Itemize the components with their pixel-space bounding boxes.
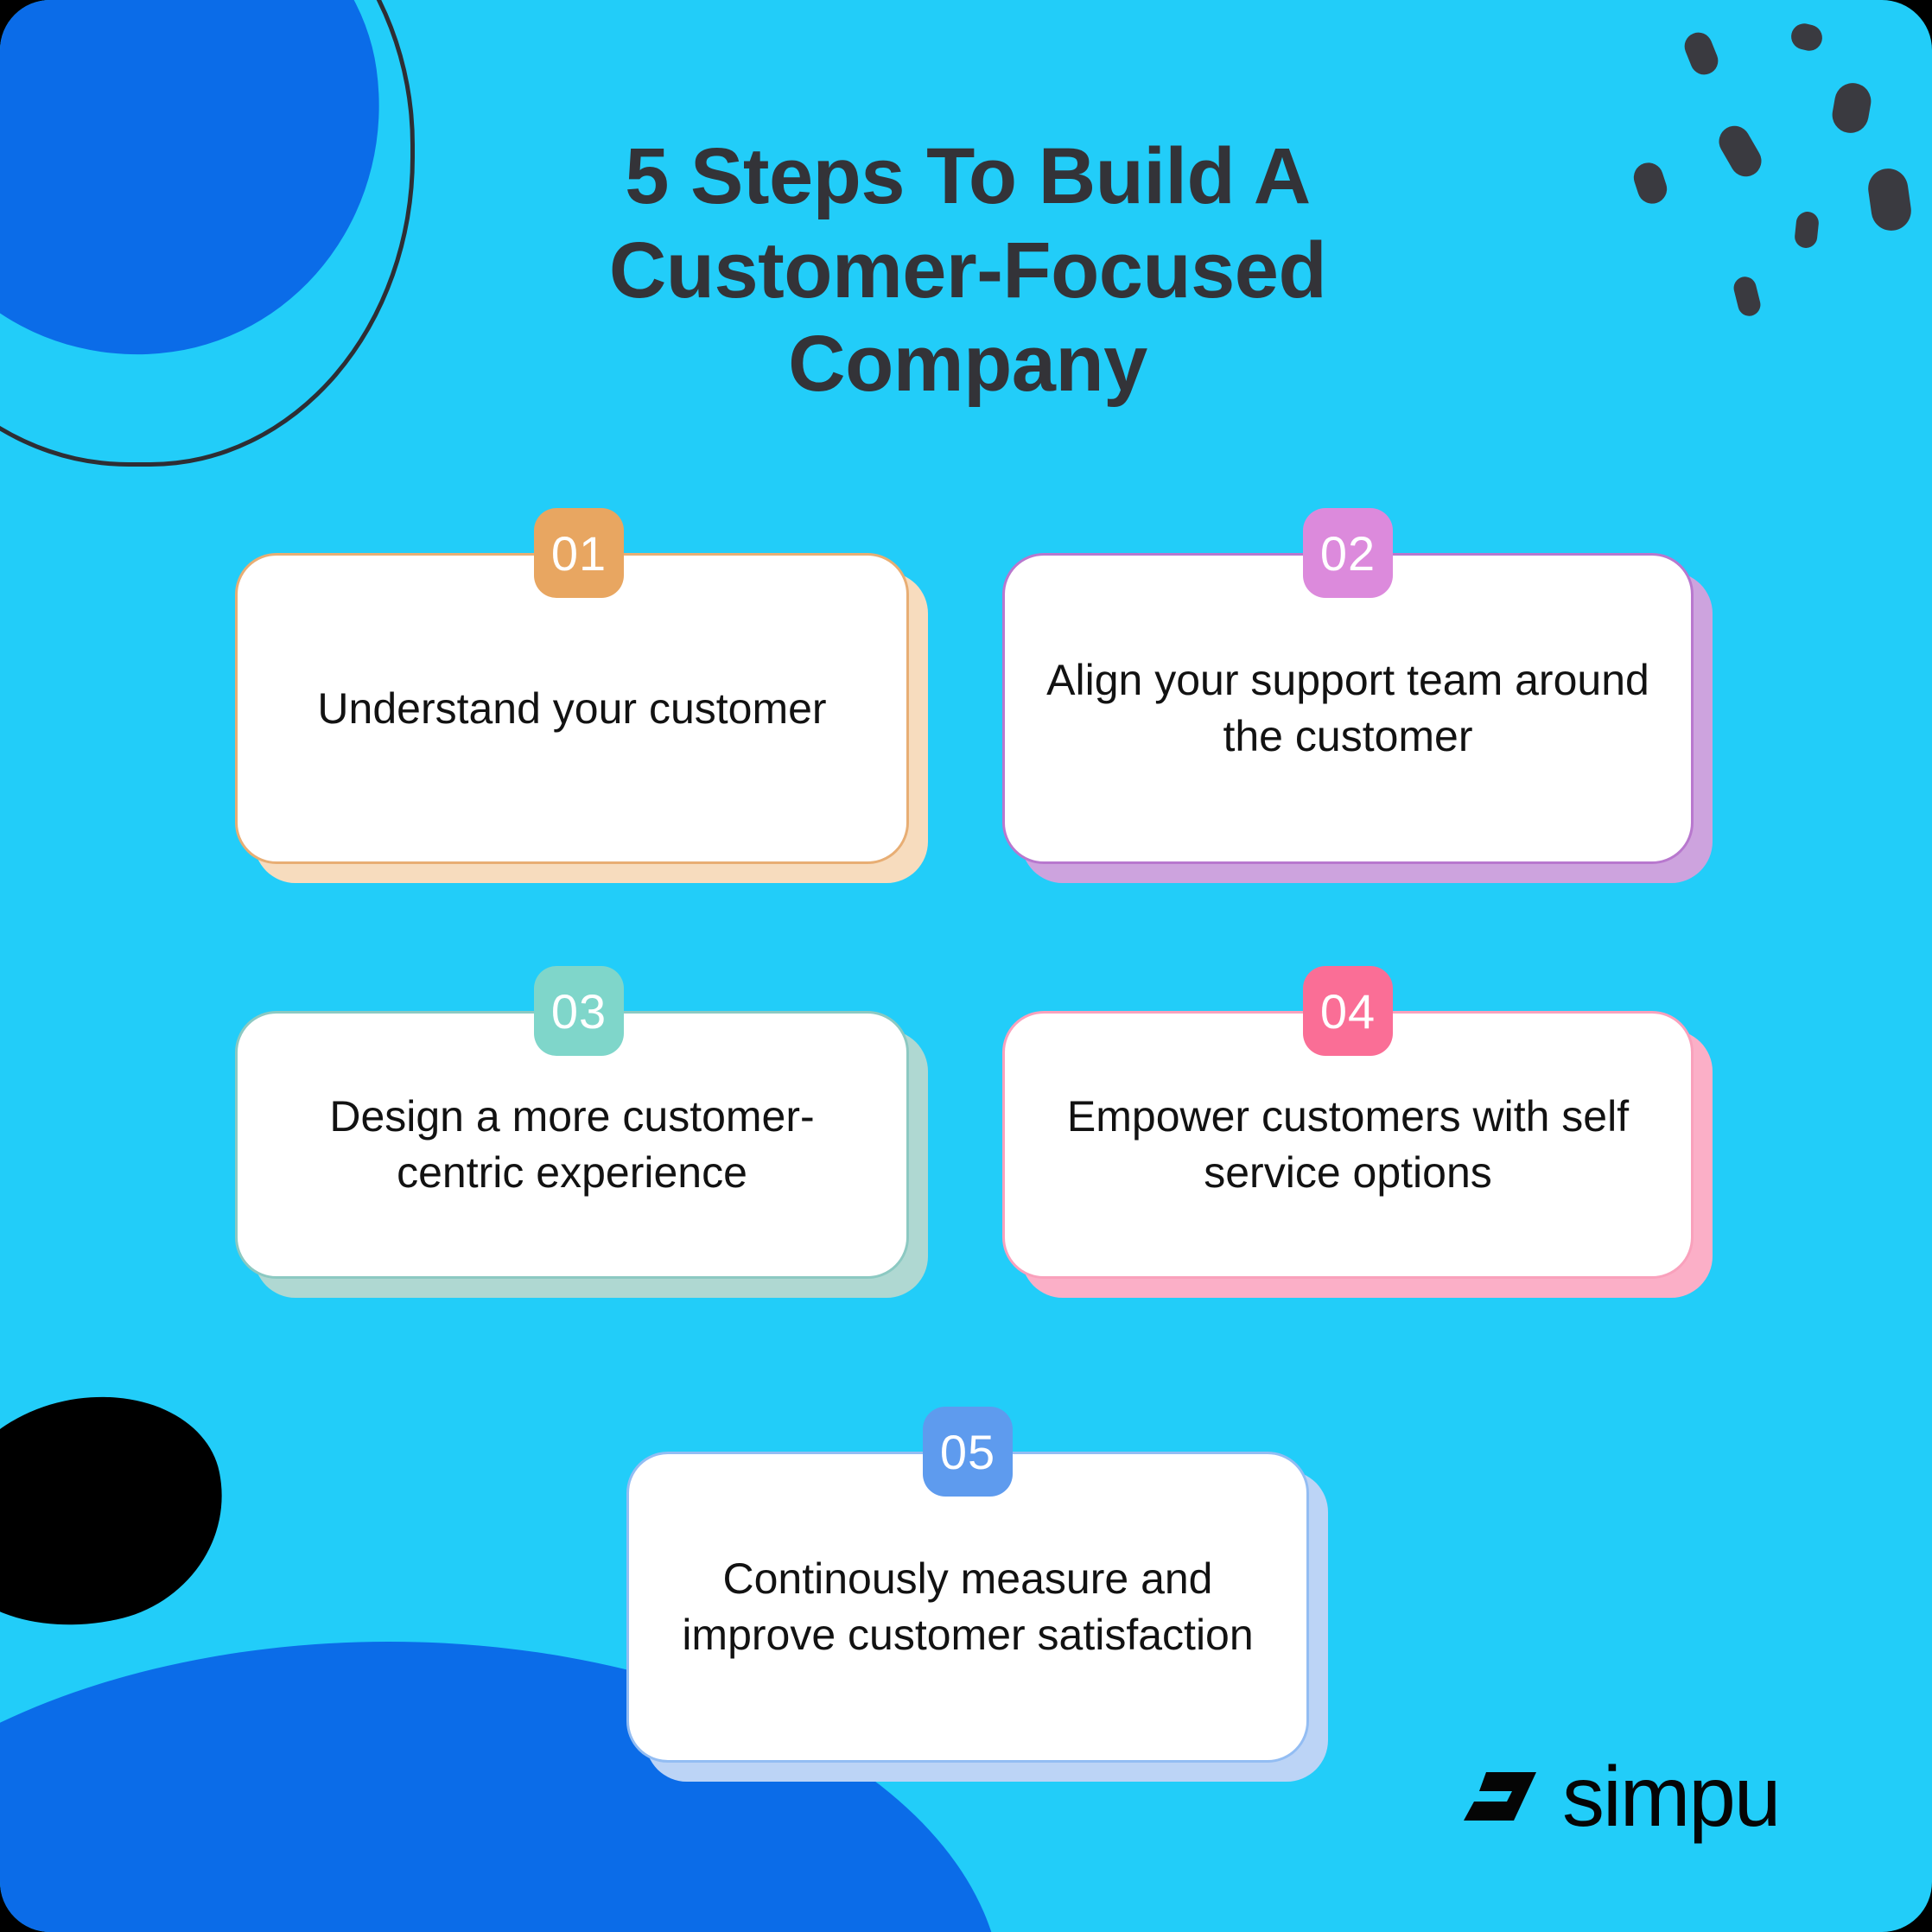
brand-name: simpu	[1562, 1754, 1779, 1839]
step-label: Continously measure and improve customer…	[629, 1551, 1306, 1663]
step-label: Empower customers with self service opti…	[1005, 1089, 1691, 1201]
dot-blob-5	[1630, 159, 1670, 207]
step-label: Design a more customer-centric experienc…	[238, 1089, 906, 1201]
dot-blob-4	[1713, 120, 1767, 182]
step-number-badge: 02	[1303, 508, 1393, 598]
step-number-badge: 05	[923, 1407, 1013, 1497]
card-body[interactable]: Align your support team around the custo…	[1002, 553, 1694, 864]
step-card-04[interactable]: Empower customers with self service opti…	[1002, 1011, 1694, 1279]
arc-outline-decoration	[0, 0, 415, 467]
title-line-1: 5 Steps To Build A	[372, 130, 1564, 224]
step-card-01[interactable]: Understand your customer 01	[235, 553, 909, 864]
step-number-badge: 04	[1303, 966, 1393, 1056]
page-title: 5 Steps To Build A Customer-Focused Comp…	[372, 130, 1564, 411]
title-line-2: Customer-Focused	[372, 224, 1564, 318]
dot-blob-1	[1681, 29, 1722, 79]
dot-blob-6	[1865, 166, 1914, 233]
poster-background: 5 Steps To Build A Customer-Focused Comp…	[0, 0, 1932, 1932]
dot-blob-7	[1794, 211, 1820, 249]
step-number-badge: 03	[534, 966, 624, 1056]
infographic-canvas: 5 Steps To Build A Customer-Focused Comp…	[0, 0, 1932, 1932]
simpu-mark-icon	[1460, 1770, 1540, 1822]
step-label: Understand your customer	[276, 681, 867, 737]
step-card-02[interactable]: Align your support team around the custo…	[1002, 553, 1694, 864]
blue-blob-top-left	[0, 0, 411, 385]
dot-blob-3	[1829, 80, 1873, 136]
dot-blob-8	[1732, 275, 1763, 319]
step-number-badge: 01	[534, 508, 624, 598]
brand-logo: simpu	[1460, 1754, 1779, 1839]
step-card-05[interactable]: Continously measure and improve customer…	[626, 1452, 1309, 1763]
title-line-3: Company	[372, 317, 1564, 411]
step-label: Align your support team around the custo…	[1005, 652, 1691, 765]
card-body[interactable]: Continously measure and improve customer…	[626, 1452, 1309, 1763]
dot-blob-2	[1789, 21, 1825, 54]
step-card-03[interactable]: Design a more customer-centric experienc…	[235, 1011, 909, 1279]
black-blob-bottom-left	[0, 1373, 245, 1652]
card-body[interactable]: Understand your customer	[235, 553, 909, 864]
